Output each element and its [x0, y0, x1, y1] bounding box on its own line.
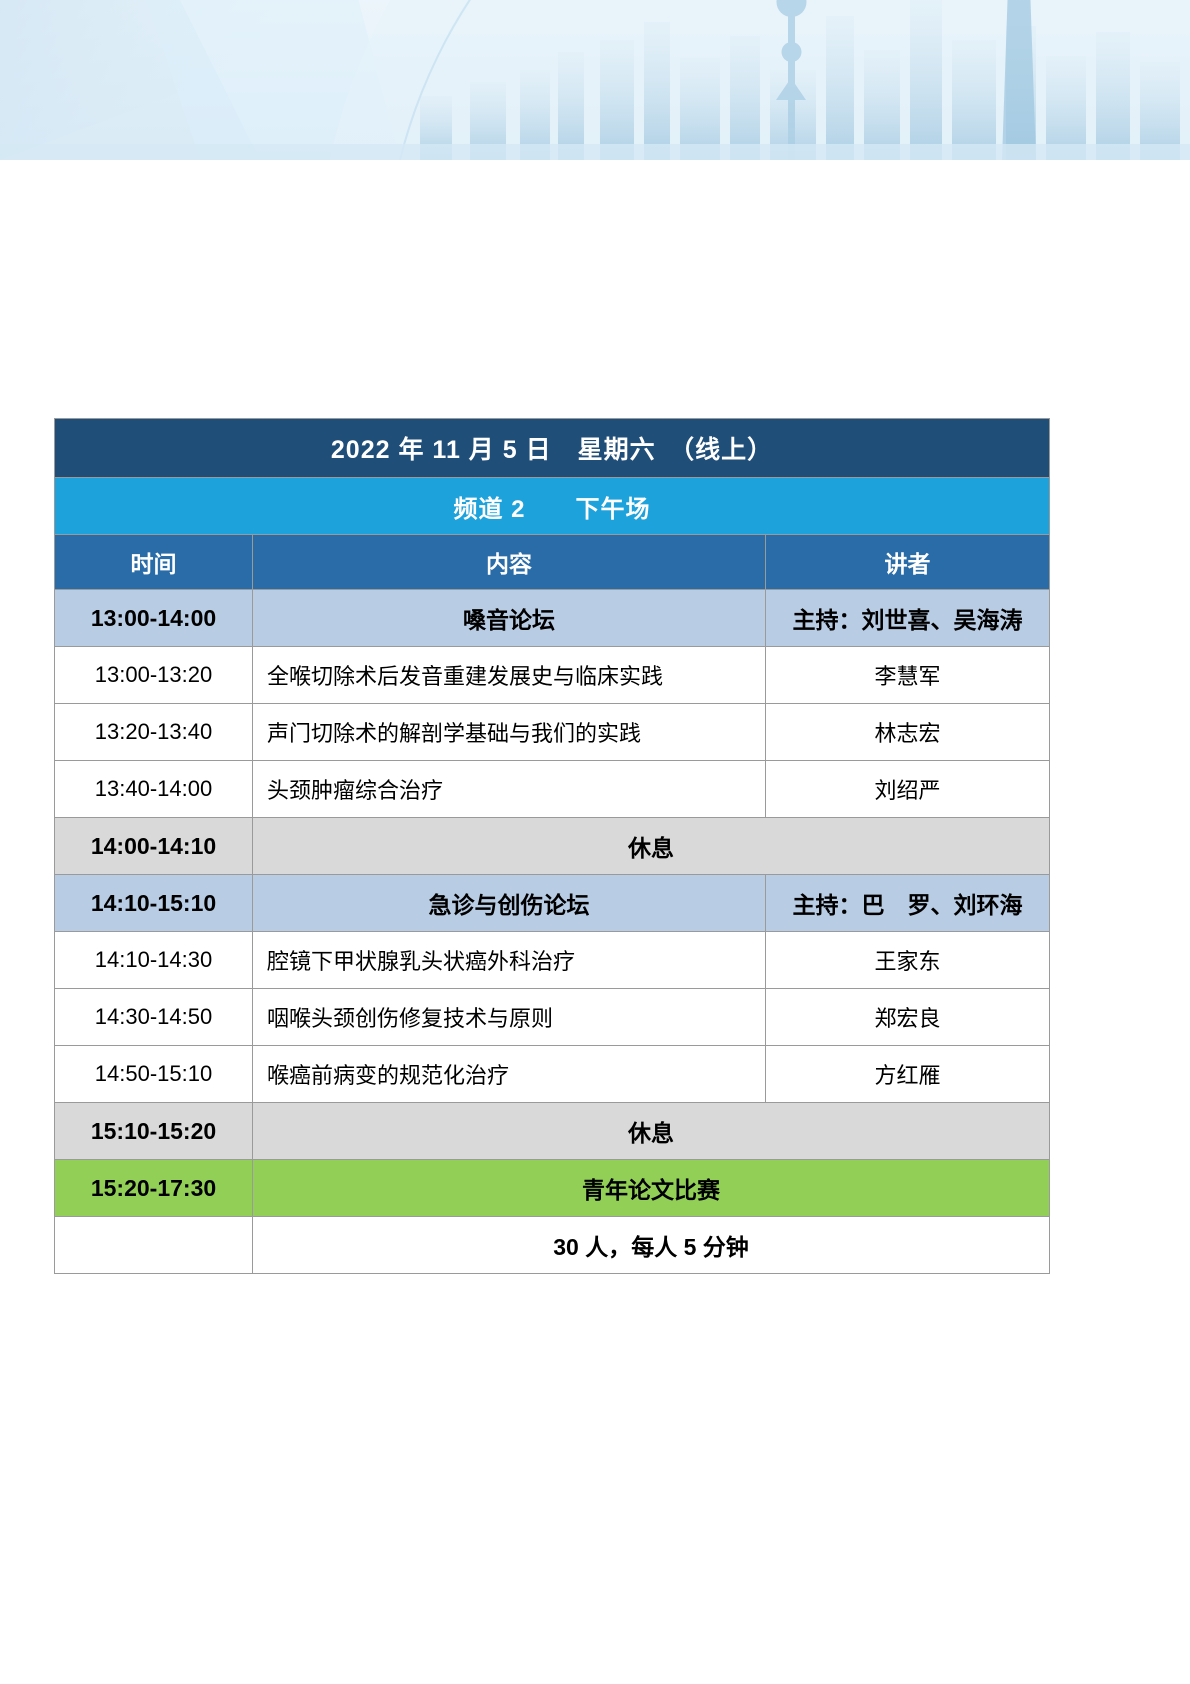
row-time: 13:00-13:20 [55, 647, 253, 704]
conference-title-chinese: 第五届东方耳鼻咽喉—头颈外科会议 [48, 22, 768, 72]
oriental-congress-logo: 上海市医学会 系列会议 Oriental Congress [962, 24, 1054, 116]
title-en-ordinal: th [109, 85, 122, 100]
schedule-date-title: 2022 年 11 月 5 日 星期六 （线上） [55, 419, 1050, 478]
ocohns-logo: OCO HNS 东方耳鼻咽喉头颈外科会议 Oriental Congress o… [1068, 24, 1154, 116]
row-speaker: 李慧军 [766, 647, 1050, 704]
row-topic: 咽喉头颈创伤修复技术与原则 [253, 989, 766, 1046]
table-row: 14:50-15:10 喉癌前病变的规范化治疗 方红雁 [55, 1046, 1050, 1103]
row-time: 14:30-14:50 [55, 989, 253, 1046]
conference-date-chinese: 2022年11月4-6日 [50, 122, 187, 147]
table-row: 13:20-13:40 声门切除术的解剖学基础与我们的实践 林志宏 [55, 704, 1050, 761]
conference-date-english: November 4~6，2022 [223, 122, 398, 147]
conference-banner: 第五届东方耳鼻咽喉—头颈外科会议 The 5th Oriental Congre… [0, 0, 1190, 160]
row-time: 14:10-15:10 [55, 875, 253, 932]
svg-text:HNS: HNS [1097, 49, 1125, 63]
row-topic: 声门切除术的解剖学基础与我们的实践 [253, 704, 766, 761]
row-time: 13:20-13:40 [55, 704, 253, 761]
row-topic: 腔镜下甲状腺乳头状癌外科治疗 [253, 932, 766, 989]
row-time: 14:10-14:30 [55, 932, 253, 989]
row-speaker: 林志宏 [766, 704, 1050, 761]
column-header-content: 内容 [253, 535, 766, 590]
row-topic: 头颈肿瘤综合治疗 [253, 761, 766, 818]
title-en-prefix: The 5 [48, 84, 109, 110]
banner-title-block: 第五届东方耳鼻咽喉—头颈外科会议 The 5th Oriental Congre… [48, 22, 768, 111]
row-topic: 喉癌前病变的规范化治疗 [253, 1046, 766, 1103]
row-topic: 休息 [253, 1103, 1050, 1160]
row-time: 14:00-14:10 [55, 818, 253, 875]
svg-text:SHANGHAI MEDICAL ASSN: SHANGHAI MEDICAL ASSN [879, 106, 930, 111]
svg-text:上海市医学会 系列会议: 上海市医学会 系列会议 [987, 102, 1029, 108]
svg-text:Oriental Congress: Oriental Congress [991, 110, 1024, 114]
row-topic: 青年论文比赛 [253, 1160, 1050, 1217]
banner-logo-group: 上海市医学会 SHANGHAI MEDICAL ASSN 上海市医学会 系列会议… [860, 24, 1154, 116]
conference-title-english: The 5th Oriental Congress of Otolaryngol… [48, 84, 768, 111]
row-time [55, 1217, 253, 1274]
row-topic: 急诊与创伤论坛 [253, 875, 766, 932]
row-time: 15:20-17:30 [55, 1160, 253, 1217]
schedule-table-body: 2022 年 11 月 5 日 星期六 （线上） 频道 2 下午场 时间 内容 … [55, 419, 1050, 1274]
row-time: 14:50-15:10 [55, 1046, 253, 1103]
table-row: 15:10-15:20 休息 [55, 1103, 1050, 1160]
row-topic: 嗓音论坛 [253, 590, 766, 647]
title-en-suffix: Oriental Congress of Otolaryngology-Head… [122, 84, 810, 110]
conference-dates: 2022年11月4-6日 November 4~6，2022 [50, 122, 398, 147]
schedule-container: 2022 年 11 月 5 日 星期六 （线上） 频道 2 下午场 时间 内容 … [54, 418, 1049, 1274]
row-time: 13:00-14:00 [55, 590, 253, 647]
schedule-channel-header-row: 频道 2 下午场 [55, 478, 1050, 535]
table-row: 14:30-14:50 咽喉头颈创伤修复技术与原则 郑宏良 [55, 989, 1050, 1046]
schedule-date-header-row: 2022 年 11 月 5 日 星期六 （线上） [55, 419, 1050, 478]
table-row: 13:00-14:00 嗓音论坛 主持：刘世喜、吴海涛 [55, 590, 1050, 647]
row-topic: 休息 [253, 818, 1050, 875]
schedule-table: 2022 年 11 月 5 日 星期六 （线上） 频道 2 下午场 时间 内容 … [54, 418, 1050, 1274]
shanghai-medical-association-logo: 上海市医学会 SHANGHAI MEDICAL ASSN [860, 24, 948, 116]
row-speaker: 郑宏良 [766, 989, 1050, 1046]
row-topic: 全喉切除术后发音重建发展史与临床实践 [253, 647, 766, 704]
row-time: 13:40-14:00 [55, 761, 253, 818]
column-header-speaker: 讲者 [766, 535, 1050, 590]
table-row: 30 人，每人 5 分钟 [55, 1217, 1050, 1274]
row-speaker: 刘绍严 [766, 761, 1050, 818]
table-row: 13:00-13:20 全喉切除术后发音重建发展史与临床实践 李慧军 [55, 647, 1050, 704]
table-row: 14:00-14:10 休息 [55, 818, 1050, 875]
row-speaker: 主持：巴 罗、刘环海 [766, 875, 1050, 932]
column-header-time: 时间 [55, 535, 253, 590]
table-row: 15:20-17:30 青年论文比赛 [55, 1160, 1050, 1217]
row-time: 15:10-15:20 [55, 1103, 253, 1160]
table-row: 14:10-14:30 腔镜下甲状腺乳头状癌外科治疗 王家东 [55, 932, 1050, 989]
row-topic: 30 人，每人 5 分钟 [253, 1217, 1050, 1274]
schedule-channel-title: 频道 2 下午场 [55, 478, 1050, 535]
title-divider [48, 76, 726, 78]
row-speaker: 王家东 [766, 932, 1050, 989]
row-speaker: 主持：刘世喜、吴海涛 [766, 590, 1050, 647]
table-row: 14:10-15:10 急诊与创伤论坛 主持：巴 罗、刘环海 [55, 875, 1050, 932]
svg-text:Oriental Congress of Otolaryng: Oriental Congress of Otolaryngology [1084, 105, 1139, 109]
svg-text:Head and Neck Surgery: Head and Neck Surgery [1093, 110, 1129, 114]
row-speaker: 方红雁 [766, 1046, 1050, 1103]
schedule-column-header-row: 时间 内容 讲者 [55, 535, 1050, 590]
svg-text:东方耳鼻咽喉头颈外科会议: 东方耳鼻咽喉头颈外科会议 [1089, 98, 1134, 103]
table-row: 13:40-14:00 头颈肿瘤综合治疗 刘绍严 [55, 761, 1050, 818]
